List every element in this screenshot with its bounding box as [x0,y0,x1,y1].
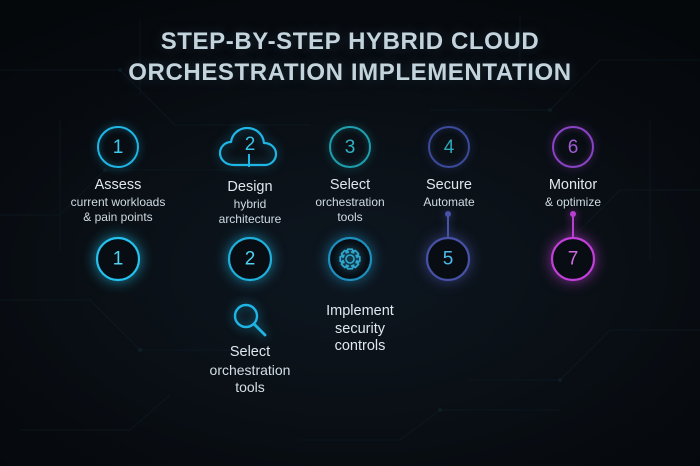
timeline-node-1[interactable] [97,238,139,280]
timeline-stem [445,211,451,238]
timeline-stem [570,211,576,238]
bottom-step-subtitle: orchestrationtools [175,362,325,397]
infographic-canvas: STEP-BY-STEP HYBRID CLOUD ORCHESTRATION … [0,0,700,466]
timeline-node-5[interactable] [427,238,469,280]
timeline-node-gear[interactable] [329,238,371,280]
timeline [0,0,700,466]
magnifier-icon [230,300,270,340]
bottom-text-block: Implementsecuritycontrols [285,303,435,356]
timeline-node-2[interactable] [229,238,271,280]
timeline-node-7[interactable] [552,238,594,280]
